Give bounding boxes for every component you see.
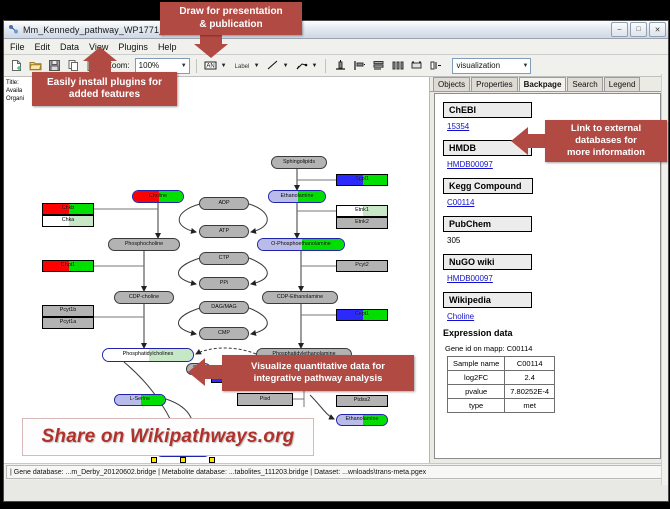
menu-plugins[interactable]: Plugins (117, 42, 149, 52)
tab-backpage[interactable]: Backpage (519, 77, 567, 91)
row-value: 2.4 (505, 371, 555, 385)
node-label: Choline (149, 194, 167, 199)
chevron-down-icon: ▼ (181, 63, 187, 69)
pathway-node-ethanolamine-top[interactable]: Ethanolamine (268, 190, 326, 203)
callout-plugins-stem (89, 60, 111, 72)
node-label: Phosphocholine (125, 242, 163, 247)
row-value: met (505, 399, 555, 413)
callout-visual-line1: Visualize quantitative data for (251, 361, 385, 373)
node-label: Ptdss2 (354, 398, 370, 403)
external-link[interactable]: C00114 (447, 198, 652, 207)
callout-draw-stem (200, 35, 222, 44)
close-button[interactable]: ✕ (649, 22, 666, 37)
backpage-section-kegg: Kegg Compound C00114 (443, 176, 652, 207)
tab-legend[interactable]: Legend (604, 77, 641, 91)
interaction-icon[interactable] (294, 58, 310, 74)
menu-file[interactable]: File (9, 42, 26, 52)
pathway-node-choline-top[interactable]: Choline (132, 190, 184, 203)
align-top-icon[interactable] (332, 58, 348, 74)
pathway-node-cdp-ethanolamine[interactable]: CDP-Ethanolamine (262, 291, 338, 304)
pathway-node-chka[interactable]: Chka (42, 215, 94, 227)
menu-data[interactable]: Data (59, 42, 80, 52)
callout-share: Share on Wikipathways.org (22, 418, 314, 456)
side-panel-tabs: Objects Properties Backpage Search Legen… (430, 77, 667, 92)
callout-plugins-line2: added features (69, 89, 140, 100)
new-file-icon[interactable] (8, 58, 24, 74)
callout-share-text: Share on Wikipathways.org (42, 426, 295, 448)
backpage-section-nugo: NuGO wiki HMDB00097 (443, 252, 652, 283)
maximize-button[interactable]: □ (630, 22, 647, 37)
pathway-node-phosphatidylchol[interactable]: Phosphatidylcholines (102, 348, 194, 362)
menu-edit[interactable]: Edit (34, 42, 52, 52)
table-row: type met (448, 399, 555, 413)
pathway-node-cmp[interactable]: CMP (199, 327, 249, 340)
pathway-node-pcyt2[interactable]: Pcyt2 (336, 260, 388, 272)
pathway-info-labels: Title: Availa Organi (6, 79, 24, 103)
selection-handle[interactable] (180, 457, 186, 463)
callout-draw-arrow-icon (194, 44, 228, 58)
node-label: Sgpl1 (355, 177, 369, 182)
table-row: pvalue 7.80252E-4 (448, 385, 555, 399)
callout-plugins: Easily install plugins for added feature… (32, 72, 177, 106)
row-key: Sample name (448, 357, 505, 371)
section-heading: Kegg Compound (443, 178, 533, 194)
pathway-node-cept1[interactable]: Cept1 (336, 309, 388, 321)
pathway-node-phosphocholine[interactable]: Phosphocholine (108, 238, 180, 251)
callout-link-line3: more information (567, 147, 645, 159)
row-value: C00114 (505, 357, 555, 371)
distribute-icon[interactable] (389, 58, 405, 74)
datanode-dropdown-icon[interactable]: ▼ (221, 63, 227, 69)
node-label: Etnk2 (355, 220, 369, 225)
callout-draw-line2: & publication (199, 19, 262, 30)
node-label: CDP-choline (129, 295, 159, 300)
toolbar-separator-2 (325, 59, 326, 73)
callout-plugins-line1: Easily install plugins for (47, 77, 162, 88)
screenshot-root: Mm_Kennedy_pathway_WP1771_45176.gpml – □… (0, 0, 670, 509)
selection-handle[interactable] (151, 457, 157, 463)
section-heading: NuGO wiki (443, 254, 532, 270)
info-organism-label: Organi (6, 95, 24, 103)
pathway-node-ctp[interactable]: CTP (199, 252, 249, 265)
pathway-node-ptdss2[interactable]: Ptdss2 (336, 395, 388, 407)
pathway-node-atp[interactable]: ATP (199, 225, 249, 238)
align-left-icon[interactable] (351, 58, 367, 74)
expression-table: Sample name C00114 log2FC 2.4 pvalue 7.8… (447, 356, 555, 413)
title-bar: Mm_Kennedy_pathway_WP1771_45176.gpml – □… (4, 21, 668, 39)
callout-visualize: Visualize quantitative data for integrat… (222, 355, 414, 391)
pathway-node-cdp-choline[interactable]: CDP-choline (114, 291, 174, 304)
row-value: 7.80252E-4 (505, 385, 555, 399)
callout-visual-arrow-icon (188, 358, 205, 386)
node-label: CTP (219, 256, 230, 261)
backpage-section-pubchem: PubChem 305 (443, 214, 652, 245)
group-icon[interactable] (408, 58, 424, 74)
callout-visual-line2: integrative pathway analysis (254, 373, 383, 385)
node-label: L-Serine (130, 397, 150, 402)
pathway-node-ethanolamine-bot[interactable]: Ethanolamine (336, 414, 388, 426)
tab-objects[interactable]: Objects (433, 77, 470, 91)
node-label: Ethanolamine (346, 417, 379, 422)
ungroup-icon[interactable] (427, 58, 443, 74)
toolbar-separator (196, 59, 197, 73)
node-label: Chkb (62, 206, 75, 211)
status-text: | Gene database: ...m_Derby_20120602.bri… (6, 465, 666, 479)
pathway-node-ppi[interactable]: PPi (199, 277, 249, 290)
info-title-label: Title: (6, 79, 24, 87)
info-availability-label: Availa (6, 87, 24, 95)
line-icon[interactable] (265, 58, 281, 74)
tab-properties[interactable]: Properties (471, 77, 517, 91)
callout-link-arrow-icon (511, 127, 528, 155)
node-label: CMP (218, 331, 230, 336)
node-label: Chka (62, 218, 75, 223)
pathway-node-chpt1[interactable]: Chpt1 (42, 260, 94, 272)
pathway-node-pisd[interactable]: Pisd (237, 393, 293, 406)
menu-help[interactable]: Help (157, 42, 178, 52)
node-label: Phosphatidylcholines (123, 352, 174, 357)
pathway-node-l-serine-left[interactable]: L-Serine (114, 394, 166, 406)
pathway-node-etnk2[interactable]: Etnk2 (336, 217, 388, 229)
pathway-node-etnk1[interactable]: Etnk1 (336, 205, 388, 217)
node-label: DAG/MAG (211, 305, 236, 310)
pathway-canvas[interactable]: Title: Availa Organi (4, 77, 430, 463)
row-key: log2FC (448, 371, 505, 385)
section-heading: Wikipedia (443, 292, 532, 308)
chevron-down-icon-2: ▼ (523, 63, 529, 69)
node-label: Pisd (260, 397, 271, 402)
section-heading: PubChem (443, 216, 532, 232)
pathway-node-pcyt1b[interactable]: Pcyt1b (42, 305, 94, 317)
callout-draw: Draw for presentation & publication (160, 2, 302, 35)
line-dropdown-icon[interactable]: ▼ (283, 63, 289, 69)
pathway-node-chkb[interactable]: Chkb (42, 203, 94, 215)
node-label: Pcyt1b (60, 308, 76, 313)
node-label: Cept1 (355, 312, 369, 317)
visualization-value: visualization (456, 61, 500, 70)
callout-link-line2: databases for (575, 135, 637, 147)
interaction-dropdown-icon[interactable]: ▼ (312, 63, 318, 69)
node-label: ADP (218, 201, 229, 206)
node-label: ATP (219, 229, 229, 234)
node-label: PPi (220, 281, 228, 286)
pathway-node-o-phosphoethanol[interactable]: O-Phosphoethanolamine (257, 238, 345, 251)
datanode-icon[interactable]: AN (203, 58, 219, 74)
stack-icon[interactable] (370, 58, 386, 74)
expression-data-title: Expression data (443, 328, 652, 338)
backpage-section-wikipedia: Wikipedia Choline (443, 290, 652, 321)
callout-plugins-arrow-icon (83, 47, 117, 61)
external-link[interactable]: HMDB00097 (447, 274, 652, 283)
node-label: Etnk1 (355, 208, 369, 213)
pathway-node-sgpl1[interactable]: Sgpl1 (336, 174, 388, 186)
minimize-button[interactable]: – (611, 22, 628, 37)
visualization-combo[interactable]: visualization ▼ (452, 58, 531, 74)
svg-text:Label: Label (234, 64, 249, 70)
row-key: type (448, 399, 505, 413)
node-label: Pcyt2 (355, 263, 368, 268)
row-key: pvalue (448, 385, 505, 399)
callout-link: Link to external databases for more info… (545, 120, 667, 162)
label-dropdown-icon[interactable]: ▼ (254, 63, 260, 69)
node-label: Ethanolamine (281, 194, 314, 199)
pathway-node-dagmag[interactable]: DAG/MAG (199, 301, 249, 314)
node-label: CDP-Ethanolamine (277, 295, 323, 300)
pathway-node-sphingolipids[interactable]: Sphingolipids (271, 156, 327, 169)
gene-id-line: Gene id on mapp: C00114 (445, 344, 652, 353)
callout-draw-line1: Draw for presentation (179, 6, 282, 17)
node-label: Chpt1 (61, 263, 75, 268)
section-heading: ChEBI (443, 102, 532, 118)
callout-link-line1: Link to external (571, 123, 641, 135)
table-row: log2FC 2.4 (448, 371, 555, 385)
svg-text:AN: AN (207, 64, 215, 70)
tab-search[interactable]: Search (567, 77, 602, 91)
pathvisio-icon (8, 24, 19, 35)
window-buttons: – □ ✕ (611, 22, 666, 37)
callout-link-stem (527, 134, 545, 148)
table-row: Sample name C00114 (448, 357, 555, 371)
node-label: Sphingolipids (283, 160, 315, 165)
pathway-node-pcyt1a[interactable]: Pcyt1a (42, 317, 94, 329)
callout-visual-stem (204, 365, 222, 379)
zoom-value: 100% (139, 61, 159, 70)
node-label: Pcyt1a (60, 320, 76, 325)
label-tool-icon[interactable]: Label (232, 58, 252, 74)
external-link[interactable]: Choline (447, 312, 652, 321)
selection-handle[interactable] (209, 457, 215, 463)
node-label: O-Phosphoethanolamine (271, 242, 331, 247)
plain-value: 305 (447, 236, 652, 245)
pathway-node-adp[interactable]: ADP (199, 197, 249, 210)
status-bar: | Gene database: ...m_Derby_20120602.bri… (4, 463, 668, 480)
